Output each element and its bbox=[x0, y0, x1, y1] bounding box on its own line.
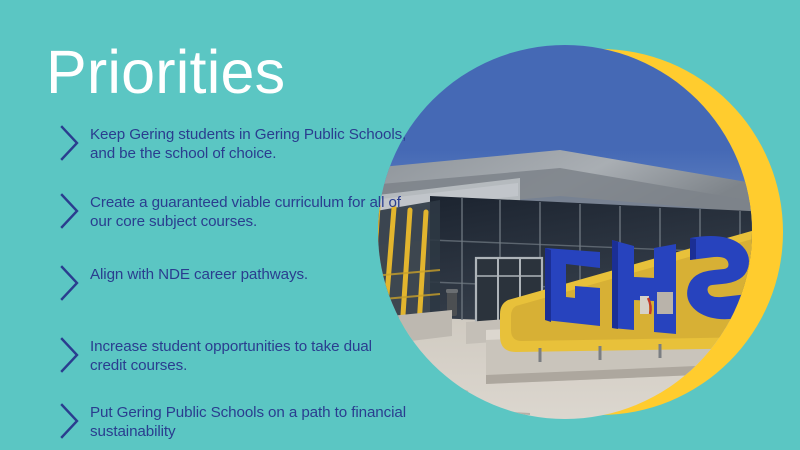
chevron-right-icon bbox=[58, 401, 82, 441]
list-item: Create a guaranteed viable curriculum fo… bbox=[58, 194, 408, 231]
page-title: Priorities bbox=[46, 40, 285, 104]
chevron-right-icon bbox=[58, 335, 82, 375]
list-item: Align with NDE career pathways. bbox=[58, 266, 308, 303]
slide-canvas: Priorities Keep Gering students in Gerin… bbox=[0, 0, 800, 450]
list-item-label: Align with NDE career pathways. bbox=[90, 266, 308, 285]
list-item-label: Put Gering Public Schools on a path to f… bbox=[90, 404, 408, 441]
list-item-label: Create a guaranteed viable curriculum fo… bbox=[90, 194, 408, 231]
list-item: Keep Gering students in Gering Public Sc… bbox=[58, 126, 408, 163]
list-item-label: Keep Gering students in Gering Public Sc… bbox=[90, 126, 408, 163]
chevron-right-icon bbox=[58, 263, 82, 303]
chevron-right-icon bbox=[58, 191, 82, 231]
chevron-right-icon bbox=[58, 123, 82, 163]
list-item-label: Increase student opportunities to take d… bbox=[90, 338, 408, 375]
list-item: Increase student opportunities to take d… bbox=[58, 338, 408, 375]
list-item: Put Gering Public Schools on a path to f… bbox=[58, 404, 408, 441]
